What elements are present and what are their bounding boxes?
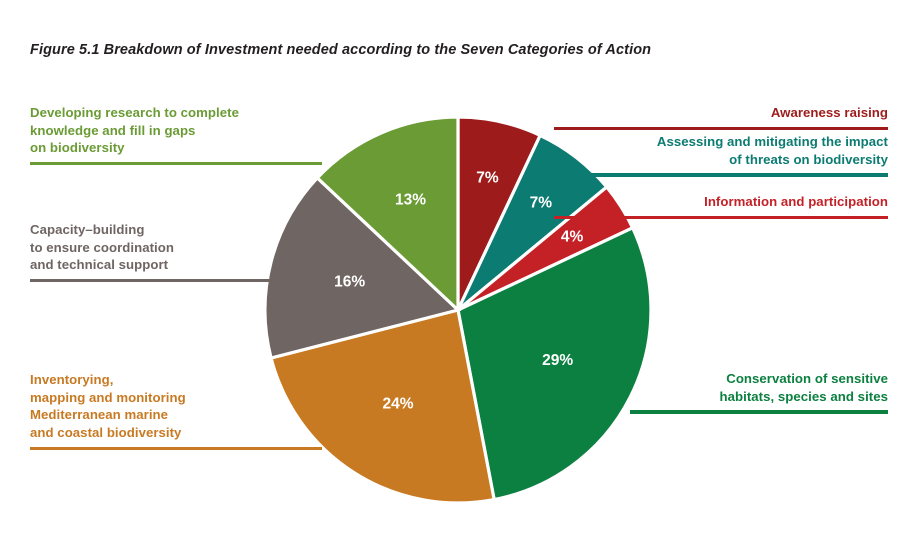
pie-slice-value: 7% bbox=[476, 169, 499, 186]
callout-inventorying: Inventorying, mapping and monitoring Med… bbox=[30, 371, 322, 450]
callout-awareness-raising-label: Awareness raising bbox=[554, 104, 888, 122]
callout-capacity-building-label: Capacity–building to ensure coordination… bbox=[30, 221, 322, 274]
pie-slice-value: 24% bbox=[382, 396, 413, 413]
callout-assessing-threats: Assessing and mitigating the impact of t… bbox=[554, 133, 888, 177]
pie-slice-value: 7% bbox=[530, 194, 553, 211]
callout-developing-research-label: Developing research to complete knowledg… bbox=[30, 104, 322, 157]
leader-line-information-participation bbox=[554, 216, 888, 219]
figure-container: Figure 5.1 Breakdown of Investment neede… bbox=[0, 0, 918, 535]
leader-line-awareness-raising bbox=[554, 127, 888, 130]
leader-line-developing-research bbox=[30, 162, 322, 165]
callout-conservation-habitats: Conservation of sensitive habitats, spec… bbox=[630, 370, 888, 414]
pie-slice-value: 13% bbox=[395, 191, 426, 208]
callout-inventorying-label: Inventorying, mapping and monitoring Med… bbox=[30, 371, 322, 442]
leader-line-assessing-threats bbox=[554, 173, 888, 176]
callout-information-participation: Information and participation bbox=[554, 193, 888, 219]
callout-developing-research: Developing research to complete knowledg… bbox=[30, 104, 322, 165]
figure-title: Figure 5.1 Breakdown of Investment neede… bbox=[30, 42, 890, 58]
callout-information-participation-label: Information and participation bbox=[554, 193, 888, 211]
callout-capacity-building: Capacity–building to ensure coordination… bbox=[30, 221, 322, 282]
callout-awareness-raising: Awareness raising bbox=[554, 104, 888, 130]
leader-line-capacity-building bbox=[30, 279, 322, 282]
leader-line-inventorying bbox=[30, 447, 322, 450]
pie-slice-value: 29% bbox=[542, 352, 573, 369]
pie-slice-value: 16% bbox=[334, 273, 365, 290]
callout-conservation-habitats-label: Conservation of sensitive habitats, spec… bbox=[630, 370, 888, 405]
pie-slice-value: 4% bbox=[561, 229, 584, 246]
leader-line-conservation-habitats bbox=[630, 410, 888, 413]
callout-assessing-threats-label: Assessing and mitigating the impact of t… bbox=[554, 133, 888, 168]
